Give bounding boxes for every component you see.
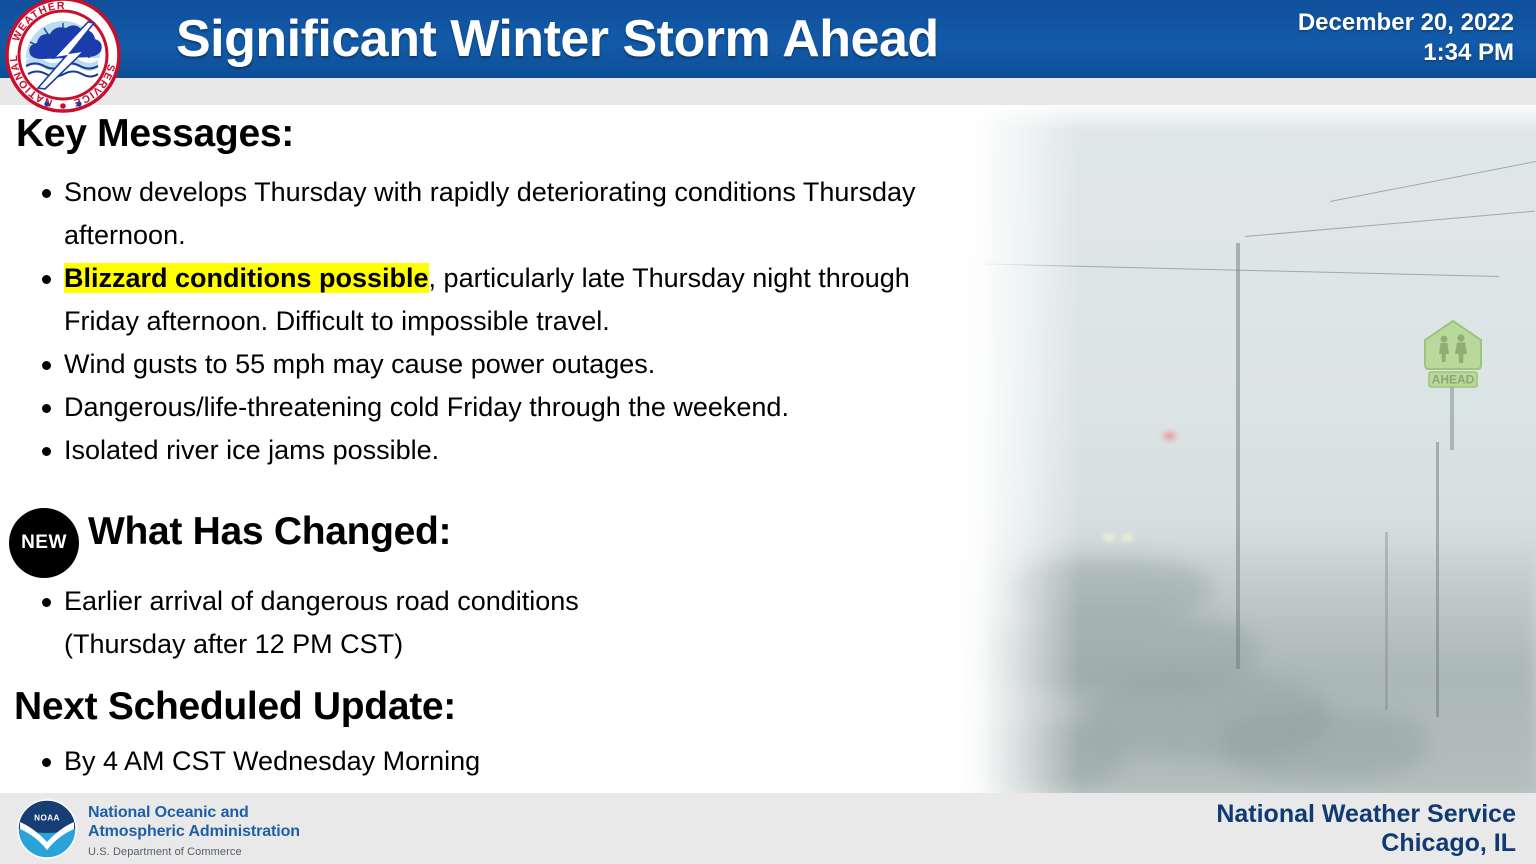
list-item: Blizzard conditions possible, particular… bbox=[38, 257, 958, 343]
list-item: Snow develops Thursday with rapidly dete… bbox=[38, 171, 958, 257]
issue-date: December 20, 2022 bbox=[1094, 8, 1514, 38]
noaa-logo-text: NOAA bbox=[34, 814, 60, 823]
photo-vehicle-headlight bbox=[1103, 534, 1115, 541]
bullet-text: Snow develops Thursday with rapidly dete… bbox=[64, 177, 915, 250]
noaa-agency-text: National Oceanic and Atmospheric Adminis… bbox=[88, 798, 300, 858]
photo-vehicle-taillight bbox=[1163, 432, 1176, 440]
what-has-changed-list: Earlier arrival of dangerous road condit… bbox=[38, 580, 938, 666]
footer-noaa-block: NOAA National Oceanic and Atmospheric Ad… bbox=[16, 798, 300, 860]
header-underline-band bbox=[0, 78, 1536, 105]
header-datetime: December 20, 2022 1:34 PM bbox=[1094, 8, 1514, 68]
photo-top-fade bbox=[930, 105, 1536, 131]
agency-name-line1: National Oceanic and bbox=[88, 803, 300, 822]
photo-utility-pole bbox=[1436, 442, 1439, 717]
new-badge-label: NEW bbox=[21, 532, 67, 554]
bullet-text: Isolated river ice jams possible. bbox=[64, 435, 439, 465]
next-scheduled-update-list: By 4 AM CST Wednesday Morning bbox=[38, 740, 938, 783]
bullet-text-line1: Earlier arrival of dangerous road condit… bbox=[64, 586, 579, 616]
content-area: Key Messages: Snow develops Thursday wit… bbox=[0, 105, 960, 793]
photo-sign-label: AHEAD bbox=[1432, 373, 1475, 387]
key-messages-list: Snow develops Thursday with rapidly dete… bbox=[38, 171, 958, 472]
agency-department: U.S. Department of Commerce bbox=[88, 846, 300, 858]
next-scheduled-update-heading: Next Scheduled Update: bbox=[14, 685, 456, 729]
list-item: Earlier arrival of dangerous road condit… bbox=[38, 580, 938, 666]
bullet-highlight: Blizzard conditions possible bbox=[64, 263, 429, 293]
office-location: Chicago, IL bbox=[1216, 829, 1516, 858]
list-item: By 4 AM CST Wednesday Morning bbox=[38, 740, 938, 783]
bullet-text: By 4 AM CST Wednesday Morning bbox=[64, 746, 480, 776]
bullet-text: Wind gusts to 55 mph may cause power out… bbox=[64, 349, 655, 379]
photo-road-smear bbox=[1221, 710, 1427, 779]
weather-graphic-page: Significant Winter Storm Ahead December … bbox=[0, 0, 1536, 864]
photo-utility-pole bbox=[1385, 532, 1388, 711]
issue-time: 1:34 PM bbox=[1094, 38, 1514, 68]
page-title: Significant Winter Storm Ahead bbox=[176, 4, 939, 74]
agency-name-line2: Atmospheric Administration bbox=[88, 822, 300, 841]
key-messages-heading: Key Messages: bbox=[16, 112, 294, 156]
bullet-text: Dangerous/life-threatening cold Friday t… bbox=[64, 392, 789, 422]
office-name: National Weather Service bbox=[1216, 800, 1516, 829]
list-item: Dangerous/life-threatening cold Friday t… bbox=[38, 386, 958, 429]
bullet-text-line2: (Thursday after 12 PM CST) bbox=[64, 629, 403, 659]
pedestrian-crossing-sign-icon: AHEAD bbox=[1418, 318, 1488, 390]
list-item: Isolated river ice jams possible. bbox=[38, 429, 958, 472]
list-item: Wind gusts to 55 mph may cause power out… bbox=[38, 343, 958, 386]
noaa-seagull-icon: NOAA bbox=[16, 798, 78, 860]
blizzard-photo: AHEAD bbox=[930, 105, 1536, 793]
what-has-changed-heading: What Has Changed: bbox=[88, 510, 451, 554]
nws-roundel-icon: WEATHER SERVICE NATIONAL bbox=[4, 0, 122, 114]
photo-utility-pole bbox=[1236, 243, 1240, 670]
photo-vehicle-headlight bbox=[1121, 534, 1133, 541]
new-badge: NEW bbox=[9, 508, 79, 578]
footer-office-block: National Weather Service Chicago, IL bbox=[1216, 800, 1516, 858]
